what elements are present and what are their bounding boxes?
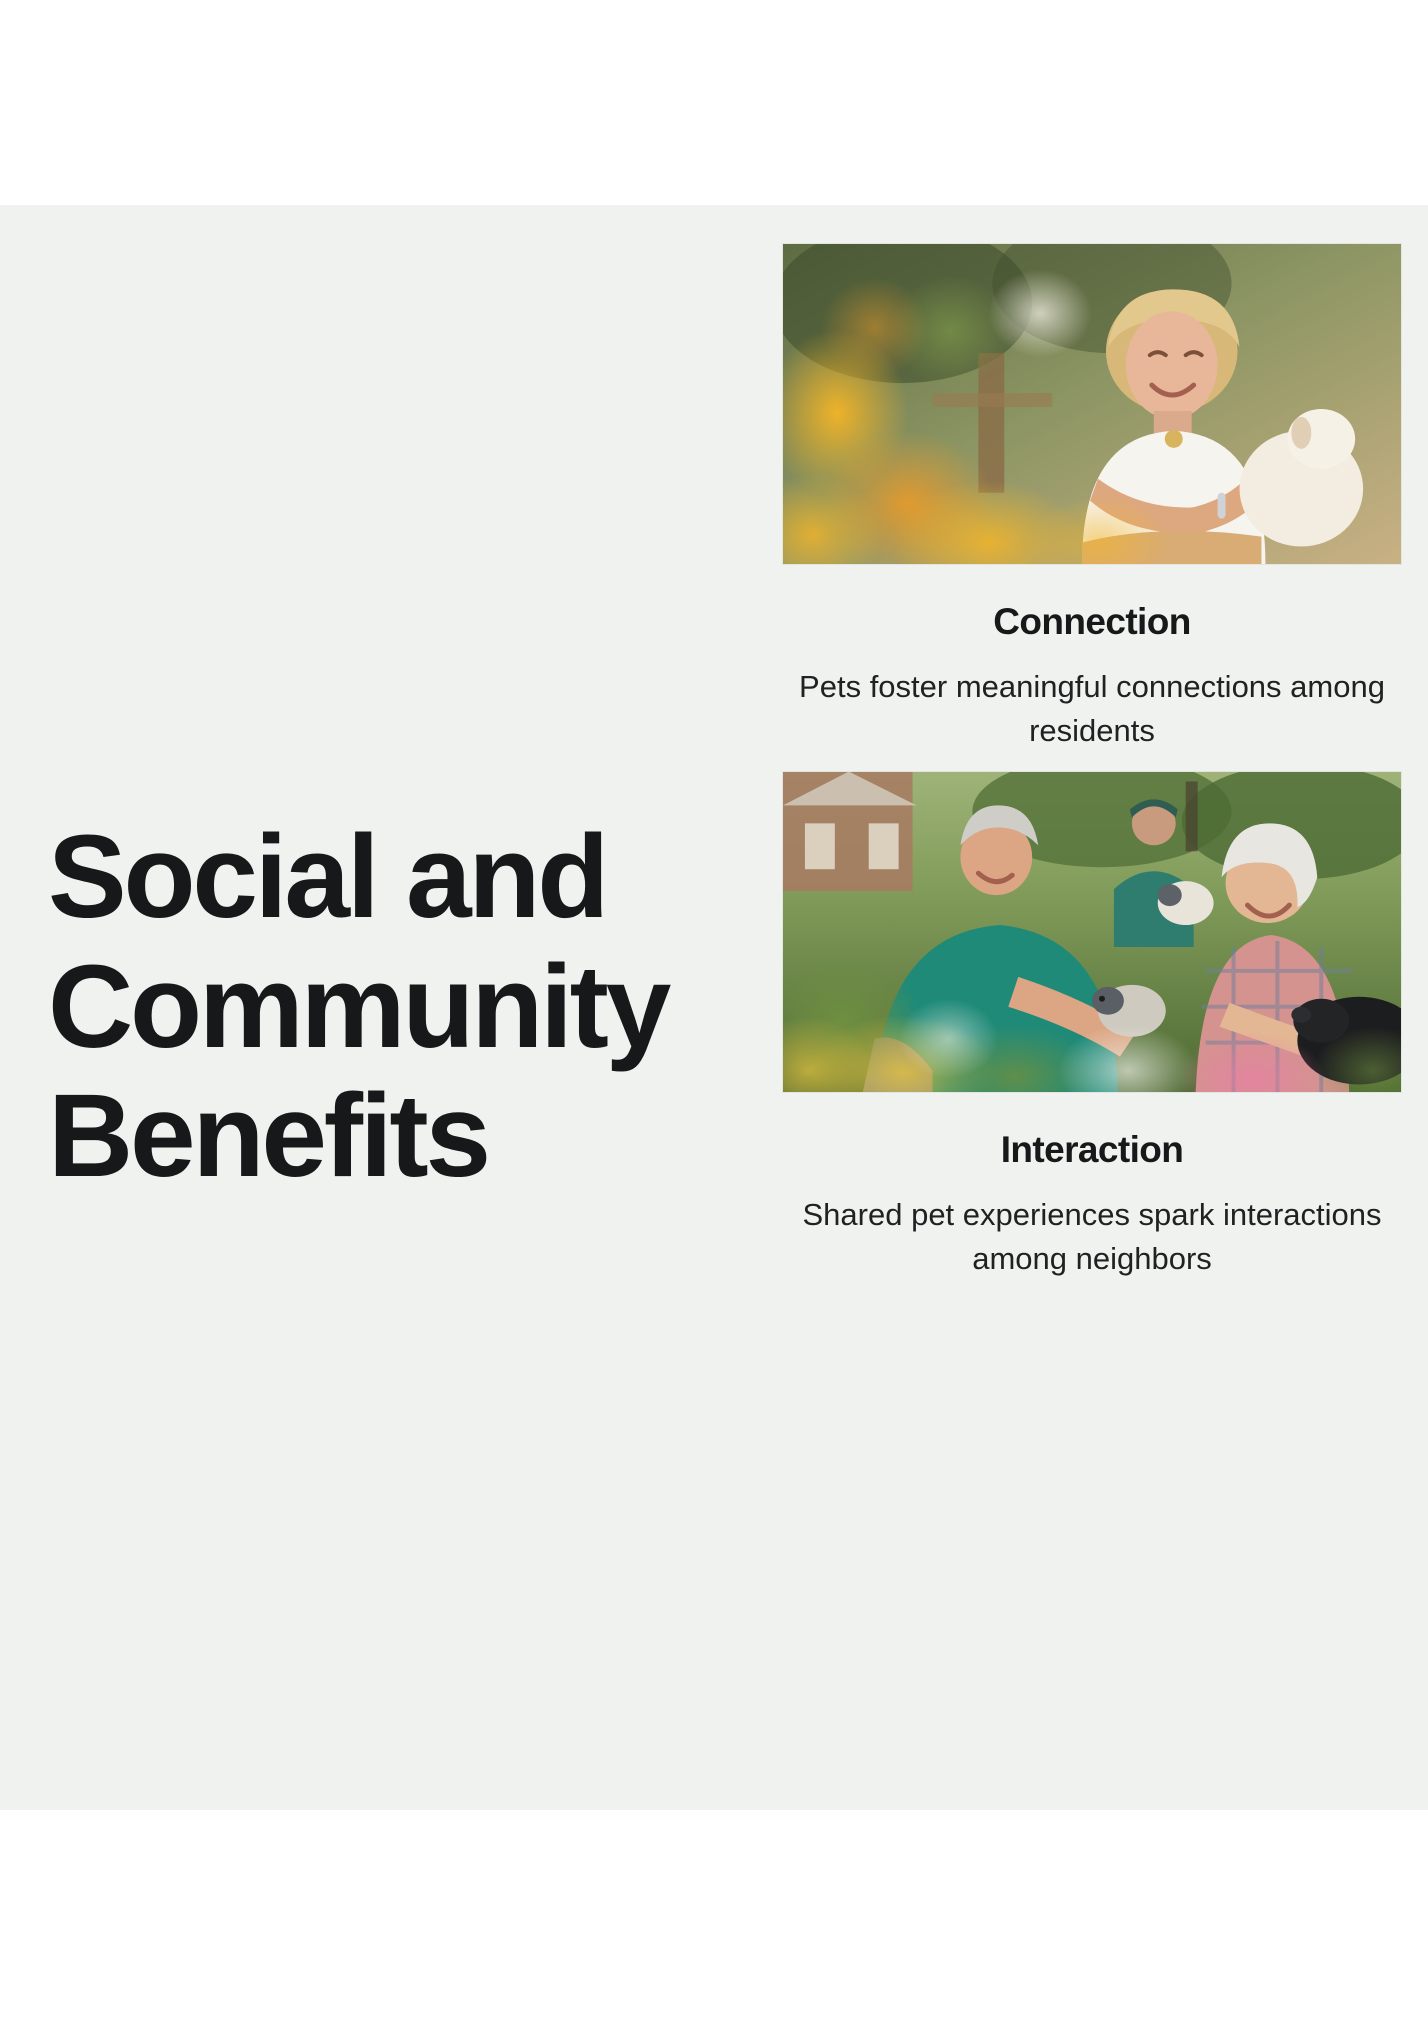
headline-column: Social and Community Benefits [0,205,782,1810]
connection-photo [782,243,1402,565]
senior-woman-with-dog-illustration [783,244,1401,564]
title-line-1: Social and [48,811,606,943]
interaction-photo [782,771,1402,1093]
card-body: Shared pet experiences spark interaction… [792,1193,1392,1281]
card-heading: Interaction [1001,1129,1184,1171]
benefit-card-connection: Connection Pets foster meaningful connec… [782,243,1402,753]
slide-canvas: Social and Community Benefits [0,205,1428,1810]
card-body: Pets foster meaningful connections among… [792,665,1392,753]
seniors-volunteers-with-dogs-illustration [783,772,1401,1092]
page-title: Social and Community Benefits [48,813,668,1202]
benefit-card-interaction: Interaction Shared pet experiences spark… [782,771,1402,1281]
card-heading: Connection [993,601,1190,643]
title-line-3: Benefits [48,1070,488,1202]
benefit-cards-column: Connection Pets foster meaningful connec… [782,205,1428,1810]
slide-body: Social and Community Benefits [0,205,1428,1810]
title-line-2: Community [48,941,668,1073]
